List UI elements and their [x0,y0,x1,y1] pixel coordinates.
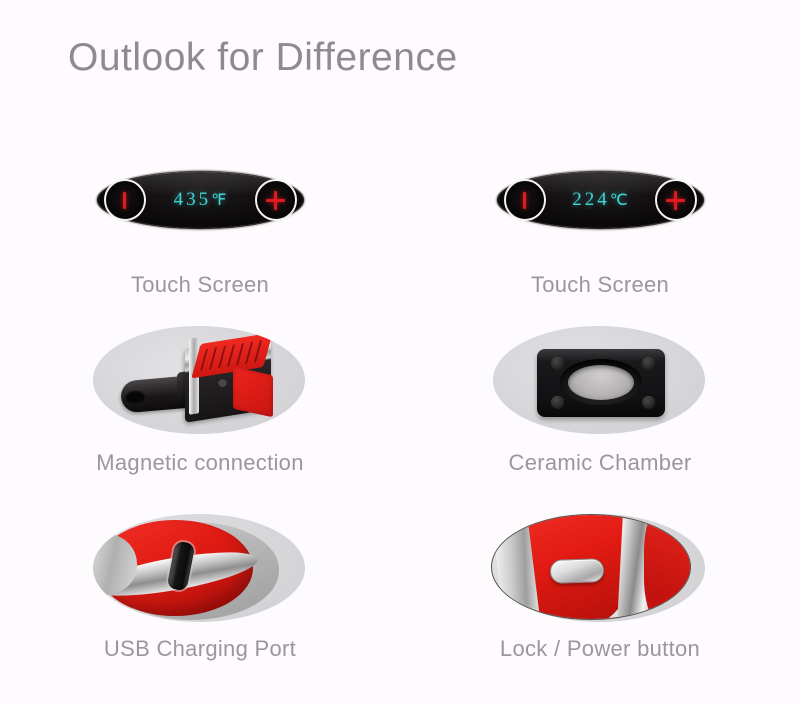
lock-red-right-shape [644,514,691,620]
feature-cell-ceramic-chamber: Ceramic Chamber [400,324,800,476]
feature-caption-lock-power-button: Lock / Power button [500,636,700,662]
temperature-increase-button-fahrenheit[interactable] [255,179,297,221]
device-red-front-shape [233,367,273,418]
temperature-increase-button-celsius[interactable] [655,179,697,221]
touch-screen-display-fahrenheit[interactable]: 435℉ [98,172,303,228]
usb-charging-port-photo [85,512,315,624]
feature-cell-touch-screen-celsius: 224℃ Touch Screen [400,130,800,298]
lock-power-button-photo [485,512,715,624]
magnetic-connector-artwork [93,326,305,434]
chamber-screw-top-left [551,357,564,370]
touch-screen-fahrenheit-media: 435℉ [85,144,315,256]
feature-row-2: Magnetic connection Ceramic Chamber [0,324,800,476]
feature-caption-magnetic-connection: Magnetic connection [96,450,304,476]
temperature-decrease-button-celsius[interactable] [504,179,546,221]
feature-caption-usb-charging-port: USB Charging Port [104,636,296,662]
minus-icon [523,192,526,209]
page-title: Outlook for Difference [68,36,458,80]
power-button-icon[interactable] [550,558,605,584]
ceramic-chamber-photo [485,324,715,436]
temperature-readout-celsius: 224℃ [546,189,655,211]
temperature-readout-fahrenheit: 435℉ [146,189,255,211]
chamber-screw-bottom-right [642,396,655,409]
feature-cell-lock-power-button: Lock / Power button [400,512,800,662]
temperature-unit-fahrenheit: ℉ [211,192,226,209]
lock-power-button-artwork [491,514,691,620]
feature-row-1: 435℉ Touch Screen [0,130,800,298]
magnetic-connector-photo [85,324,315,436]
temperature-decrease-button-fahrenheit[interactable] [104,179,146,221]
feature-grid: 435℉ Touch Screen [0,130,800,662]
touch-screen-display-celsius[interactable]: 224℃ [498,172,703,228]
ceramic-chamber-artwork [493,326,705,434]
plus-icon [666,191,685,210]
plus-icon [266,191,285,210]
usb-charging-port-artwork [93,514,305,622]
feature-caption-ceramic-chamber: Ceramic Chamber [509,450,692,476]
device-port-dot-shape [218,378,227,387]
feature-cell-usb-charging-port: USB Charging Port [0,512,400,662]
feature-caption-touch-screen-celsius: Touch Screen [531,272,669,298]
chamber-screw-top-right [642,357,655,370]
feature-caption-touch-screen-fahrenheit: Touch Screen [131,272,269,298]
feature-row-3: USB Charging Port Lock / Power button [0,512,800,662]
feature-cell-touch-screen-fahrenheit: 435℉ Touch Screen [0,130,400,298]
temperature-unit-celsius: ℃ [610,192,628,209]
temperature-value-celsius: 224 [572,189,610,210]
feature-cell-magnetic-connection: Magnetic connection [0,324,400,476]
temperature-value-fahrenheit: 435 [174,189,212,210]
chamber-screw-bottom-left [551,396,564,409]
minus-icon [123,192,126,209]
touch-screen-celsius-media: 224℃ [485,144,715,256]
product-feature-page: Outlook for Difference 435℉ [0,0,800,704]
chamber-ceramic-hole-shape [568,365,634,400]
